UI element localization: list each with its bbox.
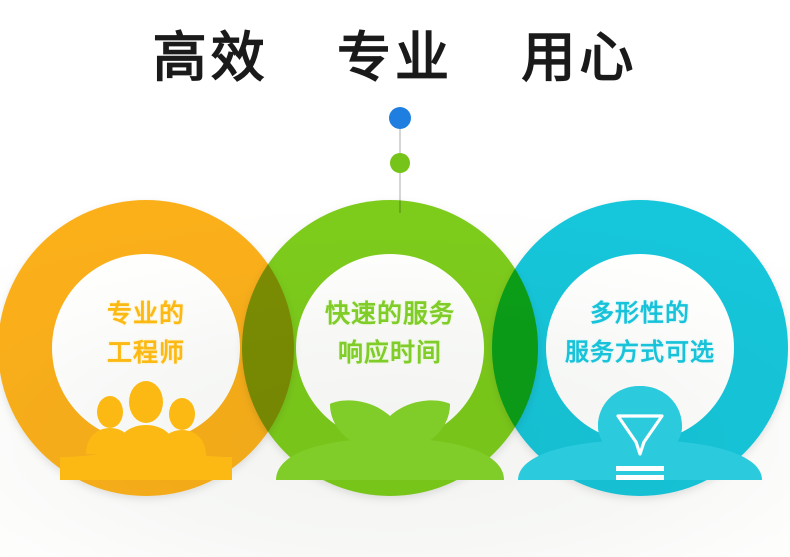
circle-flexible[interactable] [492,200,788,496]
infographic-canvas: 高效 专业 用心 [0,0,790,557]
circle-response-inner [296,254,484,442]
page-title: 高效 专业 用心 [0,28,790,88]
connector-decoration [325,100,475,215]
circle-engineers-inner [52,254,240,442]
connector-svg [325,100,475,215]
green-dot-icon [390,153,410,173]
blue-dot-icon [389,107,411,129]
circle-flexible-inner [546,254,734,442]
